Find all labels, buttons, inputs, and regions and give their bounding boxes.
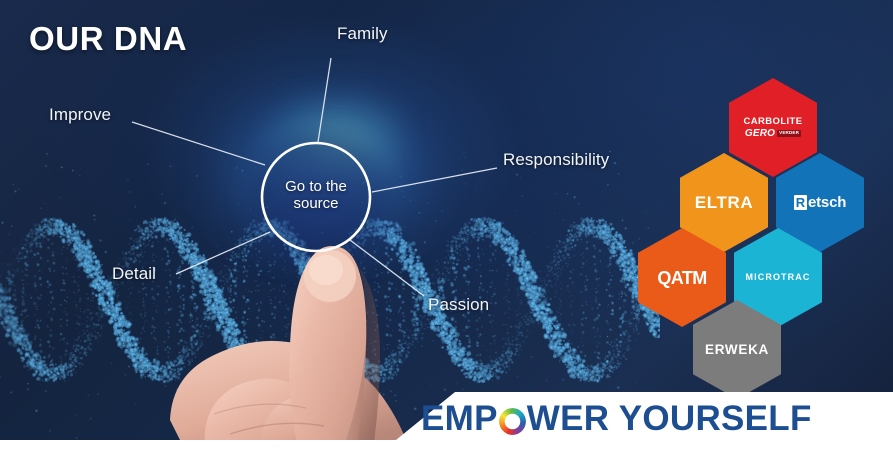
banner-text-part1: EMP	[421, 399, 498, 439]
rainbow-ring-o-icon	[499, 408, 526, 435]
banner-tagline: EMP WER YOURSELF	[421, 399, 812, 439]
banner-text-part2: WER YOURSELF	[527, 399, 812, 439]
dna-infographic-canvas: Go to the source FamilyImproveResponsibi…	[0, 0, 893, 456]
empower-banner-shape	[0, 0, 893, 456]
